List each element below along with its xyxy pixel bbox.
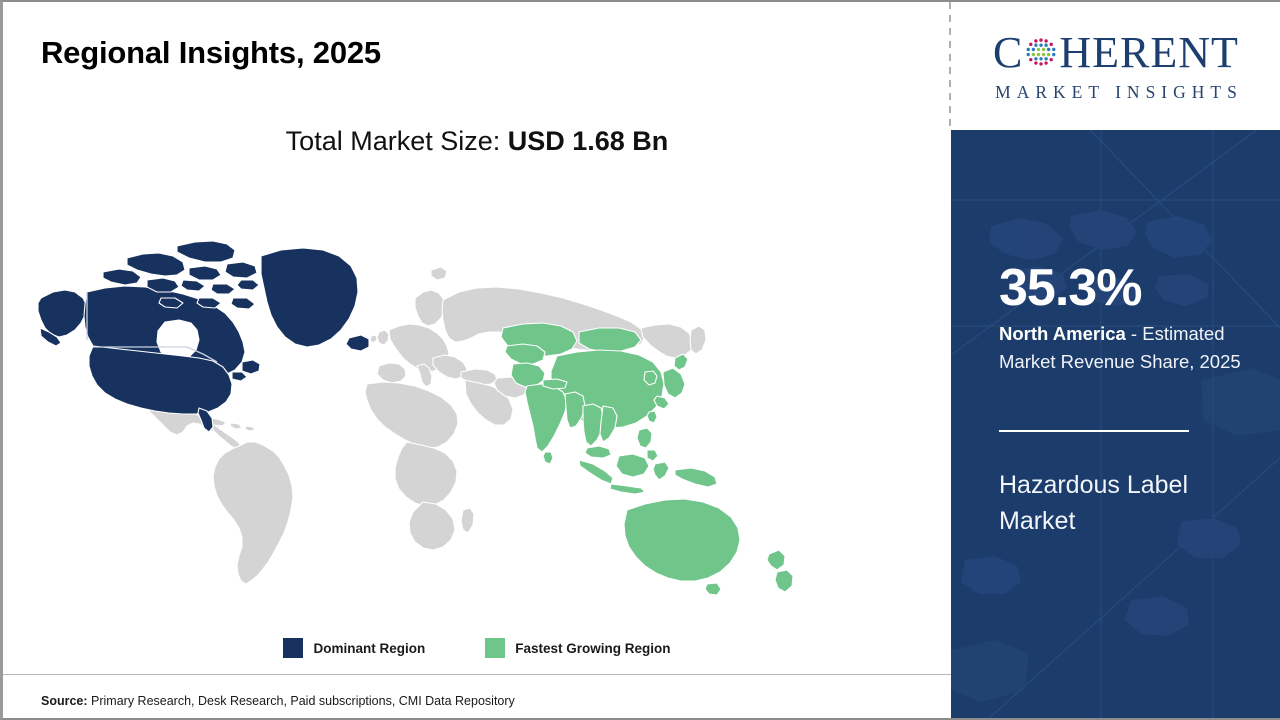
map-region-fastest-growing	[501, 323, 793, 595]
left-content-pane: Regional Insights, 2025 Total Market Siz…	[3, 2, 951, 718]
source-label: Source:	[41, 694, 88, 708]
panel-text-content: 35.3% North America - Estimated Market R…	[951, 130, 1280, 718]
logo-letters-herent: HERENT	[1059, 31, 1239, 75]
world-map-svg	[27, 180, 847, 620]
stat-percentage: 35.3%	[999, 262, 1141, 314]
legend-item-dominant: Dominant Region	[283, 638, 425, 658]
source-note: Source: Primary Research, Desk Research,…	[41, 694, 515, 708]
highlight-panel: 35.3% North America - Estimated Market R…	[951, 130, 1280, 718]
legend-label-fastest-growing: Fastest Growing Region	[515, 641, 670, 656]
legend-swatch-dominant	[283, 638, 303, 658]
brand-logo: C	[951, 2, 1280, 130]
source-text: Primary Research, Desk Research, Paid su…	[88, 694, 515, 708]
map-legend: Dominant Region Fastest Growing Region	[3, 638, 951, 658]
stat-region-name: North America	[999, 323, 1126, 344]
stat-description: North America - Estimated Market Revenue…	[999, 320, 1247, 376]
source-divider	[3, 674, 951, 675]
panel-divider	[999, 430, 1189, 432]
legend-swatch-fastest-growing	[485, 638, 505, 658]
logo-letter-c: C	[993, 31, 1023, 75]
total-market-size: Total Market Size: USD 1.68 Bn	[3, 126, 951, 157]
logo-wordmark: C	[993, 30, 1239, 76]
page-title: Regional Insights, 2025	[41, 35, 381, 71]
legend-label-dominant: Dominant Region	[313, 641, 425, 656]
market-size-value: USD 1.68 Bn	[508, 126, 669, 156]
logo-subtitle: MARKET INSIGHTS	[989, 82, 1243, 103]
dotted-globe-icon	[1024, 35, 1058, 69]
market-title: Hazardous Label Market	[999, 468, 1259, 539]
map-region-dominant	[38, 241, 369, 432]
slide-root: Regional Insights, 2025 Total Market Siz…	[0, 0, 1280, 720]
world-map	[27, 180, 847, 620]
market-size-label: Total Market Size:	[286, 126, 508, 156]
legend-item-fastest-growing: Fastest Growing Region	[485, 638, 670, 658]
